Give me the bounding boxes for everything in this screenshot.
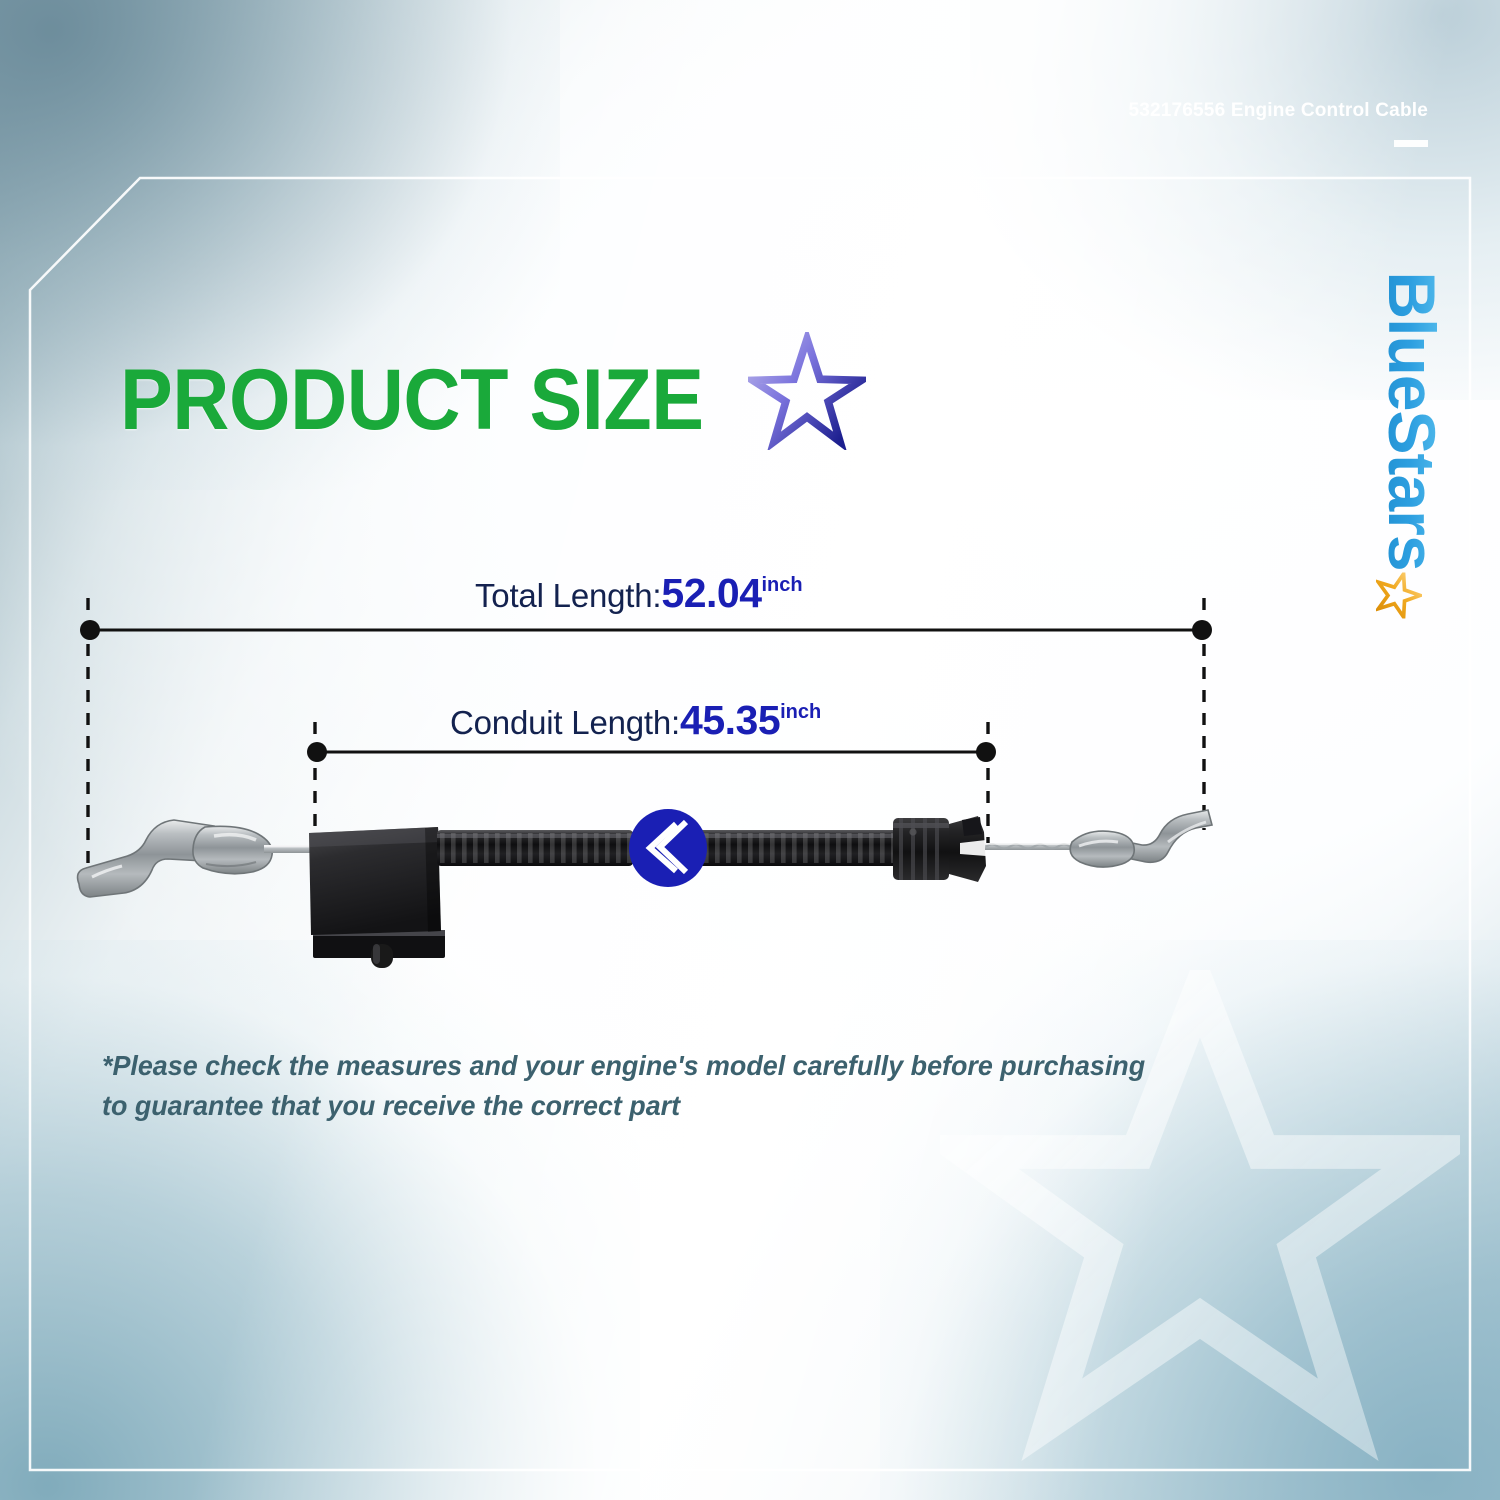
disclaimer-line-1: *Please check the measures and your engi… [102,1046,1235,1086]
star-accent-icon [748,332,866,450]
dimension-unit-conduit: inch [780,701,821,723]
dimension-value-total: 52.04 [661,570,761,616]
divider-dash-icon [1394,140,1428,147]
section-title-text: PRODUCT SIZE [120,360,704,442]
brand-name: BlueStars [1374,271,1450,570]
dimension-value-conduit: 45.35 [680,697,780,743]
dimension-label-total-text: Total Length: [475,577,661,614]
disclaimer-line-2: to guarantee that you receive the correc… [102,1086,1235,1126]
brand-logo: BlueStars [1352,245,1472,645]
dimension-unit-total: inch [762,574,803,596]
dimension-label-conduit: Conduit Length:45.35inch [450,697,821,744]
section-title: PRODUCT SIZE [120,360,866,450]
dimension-label-conduit-text: Conduit Length: [450,704,680,741]
header: 532176556 Engine Control Cable [1128,100,1428,147]
product-size-infographic: 532176556 Engine Control Cable PRODUCT S… [0,0,1500,1500]
star-gold-icon [1376,573,1422,619]
disclaimer-note: *Please check the measures and your engi… [102,1046,1235,1126]
page-title: 532176556 Engine Control Cable [1128,100,1428,122]
dimension-label-total: Total Length:52.04inch [475,570,803,617]
